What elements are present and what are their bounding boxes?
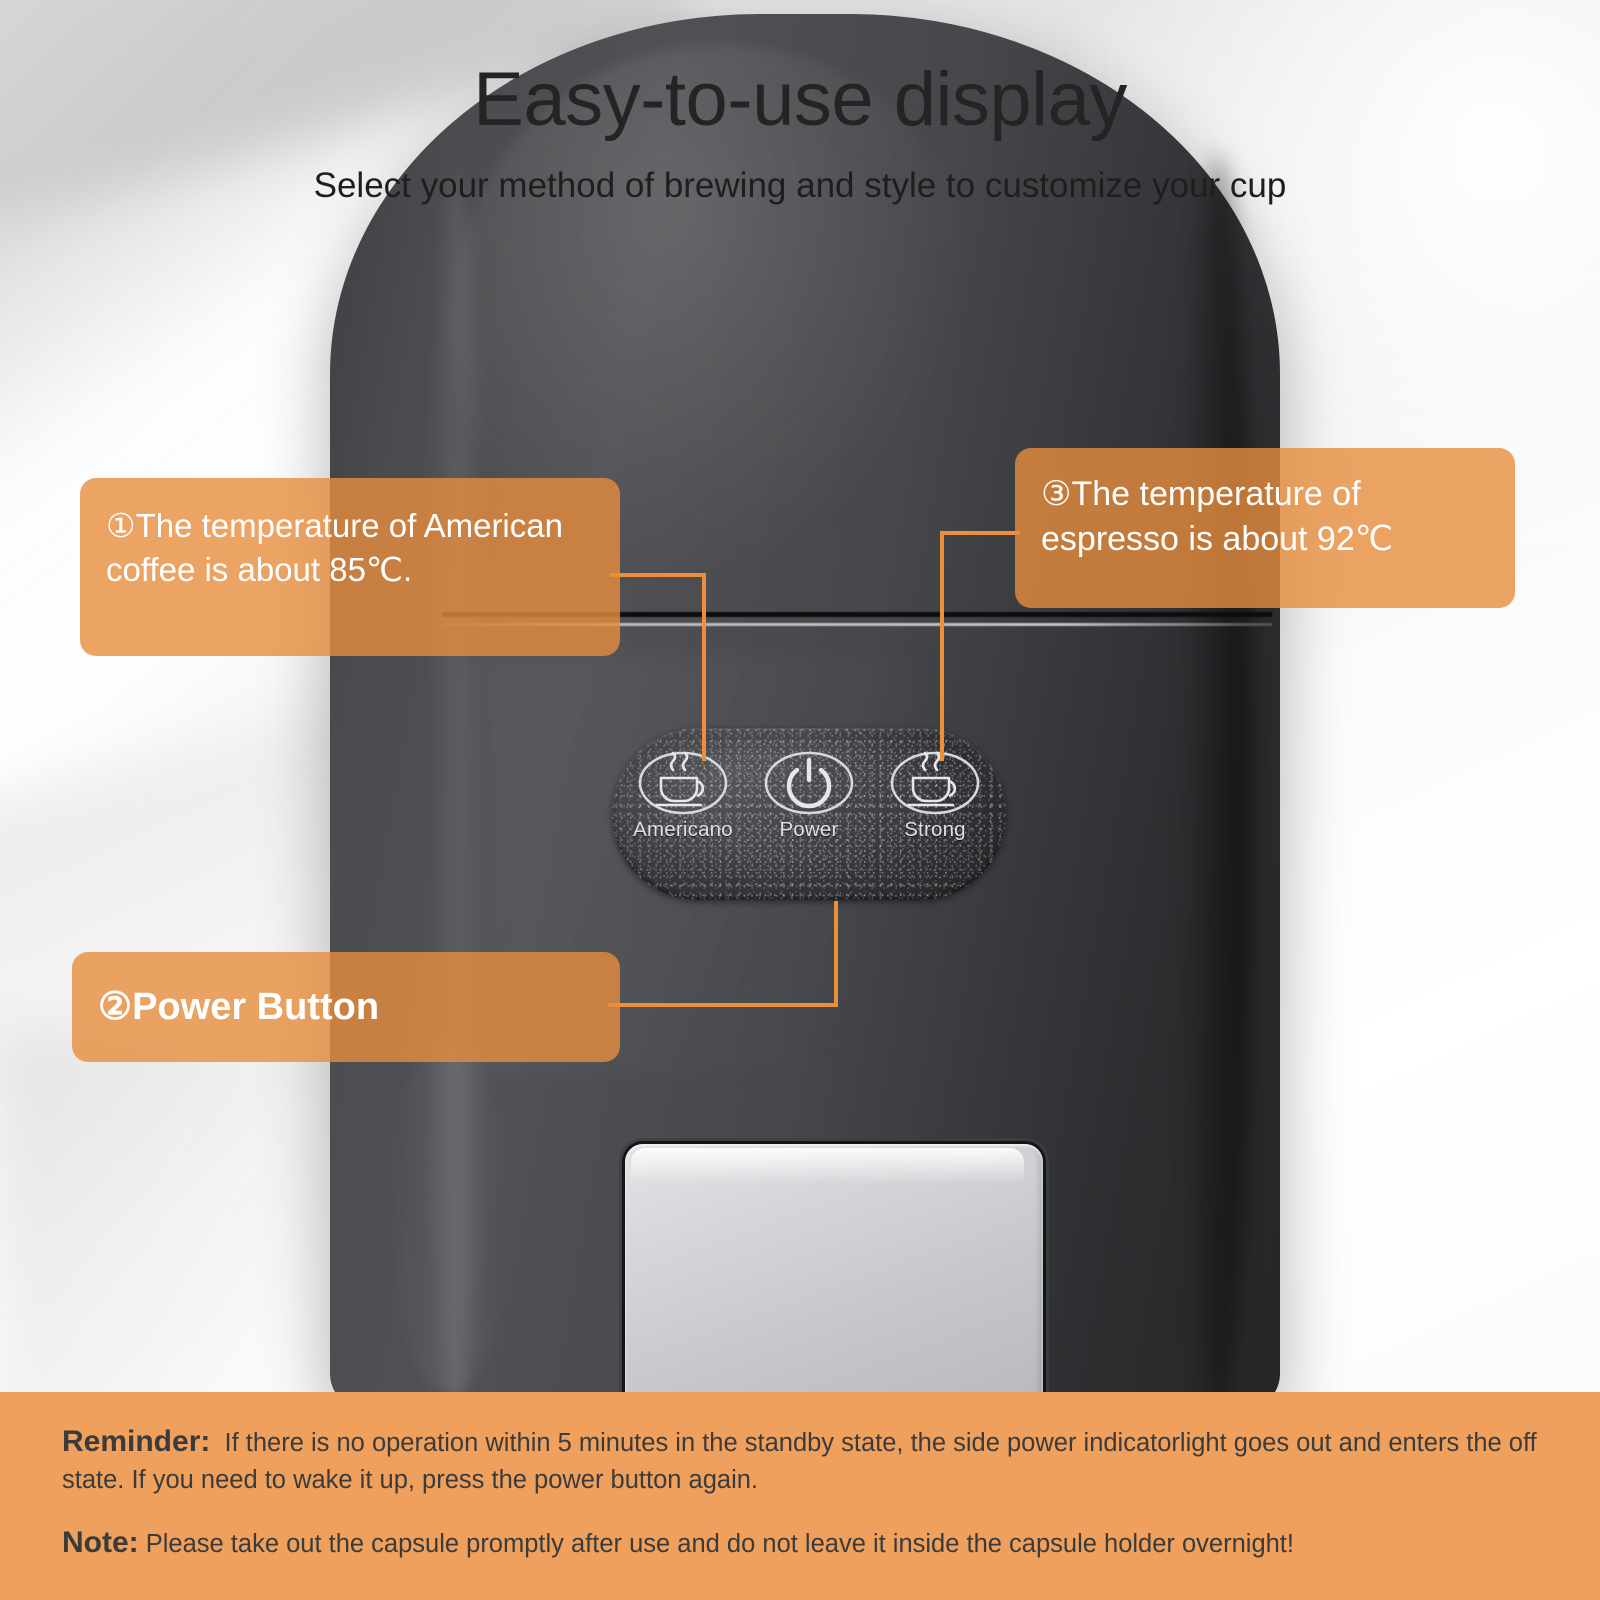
- strong-button-label: Strong: [904, 818, 966, 842]
- connector-line-callout-2-horizontal: [608, 1003, 838, 1007]
- connector-line-callout-2-vertical: [834, 901, 838, 1007]
- power-button[interactable]: Power: [757, 750, 861, 842]
- note-label: Note:: [62, 1526, 139, 1559]
- connector-line-callout-1-vertical: [702, 573, 706, 761]
- page-title: Easy-to-use display: [0, 56, 1600, 143]
- power-symbol-icon: [763, 750, 855, 816]
- footer-band: Reminder: If there is no operation withi…: [0, 1392, 1600, 1600]
- callout-2-marker: ②: [98, 982, 132, 1033]
- connector-line-callout-1-horizontal: [610, 573, 706, 577]
- control-button-row: Americano Power Str: [612, 728, 1006, 900]
- note-row: Note: Please take out the capsule prompt…: [62, 1523, 1542, 1564]
- power-button-label: Power: [779, 818, 838, 842]
- reminder-row: Reminder: If there is no operation withi…: [62, 1422, 1542, 1497]
- infographic-page: Americano Power Str: [0, 0, 1600, 1600]
- reminder-text: If there is no operation within 5 minute…: [62, 1429, 1537, 1494]
- callout-2-text: Power Button: [132, 982, 379, 1033]
- connector-line-callout-3-horizontal: [940, 531, 1020, 535]
- note-text: Please take out the capsule promptly aft…: [146, 1530, 1294, 1558]
- coffee-cup-steam-icon: [637, 750, 729, 816]
- coffee-cup-steam-icon: [889, 750, 981, 816]
- americano-button-label: Americano: [633, 818, 733, 842]
- callout-3-marker: ③: [1041, 475, 1071, 513]
- connector-line-callout-3-vertical: [940, 531, 944, 761]
- callout-3-text: The temperature of espresso is about 92℃: [1041, 475, 1393, 558]
- machine-right-edge-shadow: [1182, 154, 1252, 1414]
- callout-1-marker: ①: [106, 507, 136, 544]
- callout-espresso-temperature: ③The temperature of espresso is about 92…: [1015, 448, 1515, 608]
- callout-americano-temperature: ①The temperature of American coffee is a…: [80, 478, 620, 656]
- strong-button[interactable]: Strong: [883, 750, 987, 842]
- reminder-label: Reminder:: [62, 1425, 210, 1458]
- page-subtitle: Select your method of brewing and style …: [0, 166, 1600, 206]
- machine-side-groove: [390, 1034, 510, 1394]
- callout-1-text: The temperature of American coffee is ab…: [106, 507, 563, 588]
- plate-gloss: [631, 1148, 1024, 1184]
- americano-button[interactable]: Americano: [631, 750, 735, 842]
- callout-power-button: ②Power Button: [72, 952, 620, 1062]
- control-panel: Americano Power Str: [612, 728, 1006, 900]
